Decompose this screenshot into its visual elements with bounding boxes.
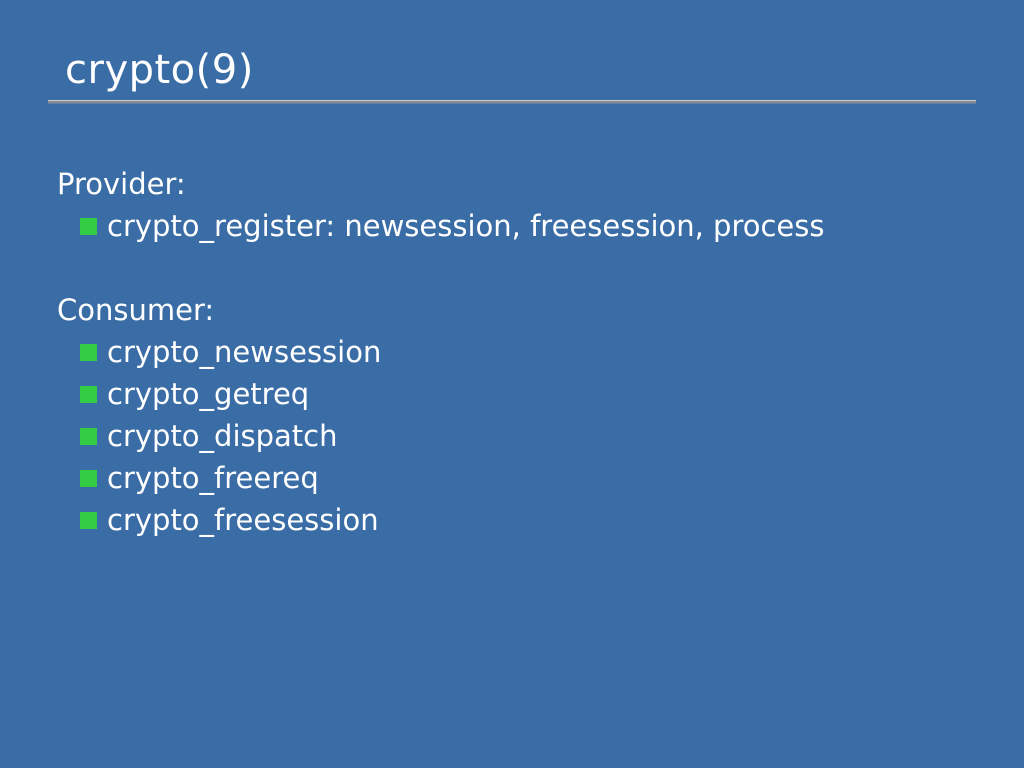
list-item-label: crypto_dispatch (107, 419, 338, 453)
list-item: crypto_getreq (57, 373, 987, 415)
list-item-label: crypto_register: newsession, freesession… (107, 209, 825, 243)
section-spacer (57, 247, 987, 289)
list-item-label: crypto_getreq (107, 377, 309, 411)
list-item: crypto_freereq (57, 457, 987, 499)
list-item-label: crypto_newsession (107, 335, 381, 369)
section-provider: Provider: crypto_register: newsession, f… (57, 163, 987, 247)
square-bullet-icon (80, 512, 97, 529)
list-item-label: crypto_freesession (107, 503, 379, 537)
square-bullet-icon (80, 344, 97, 361)
square-bullet-icon (80, 218, 97, 235)
list-item: crypto_newsession (57, 331, 987, 373)
list-item: crypto_register: newsession, freesession… (57, 205, 987, 247)
page-title: crypto(9) (48, 44, 976, 96)
bullet-list-provider: crypto_register: newsession, freesession… (57, 205, 987, 247)
list-item: crypto_dispatch (57, 415, 987, 457)
title-divider (48, 100, 976, 104)
square-bullet-icon (80, 470, 97, 487)
bullet-list-consumer: crypto_newsession crypto_getreq crypto_d… (57, 331, 987, 541)
title-block: crypto(9) (48, 44, 976, 104)
section-heading-provider: Provider: (57, 163, 987, 205)
section-heading-consumer: Consumer: (57, 289, 987, 331)
list-item: crypto_freesession (57, 499, 987, 541)
list-item-label: crypto_freereq (107, 461, 319, 495)
square-bullet-icon (80, 428, 97, 445)
slide-body: Provider: crypto_register: newsession, f… (57, 163, 987, 541)
section-consumer: Consumer: crypto_newsession crypto_getre… (57, 289, 987, 541)
slide: crypto(9) Provider: crypto_register: new… (0, 0, 1024, 768)
square-bullet-icon (80, 386, 97, 403)
